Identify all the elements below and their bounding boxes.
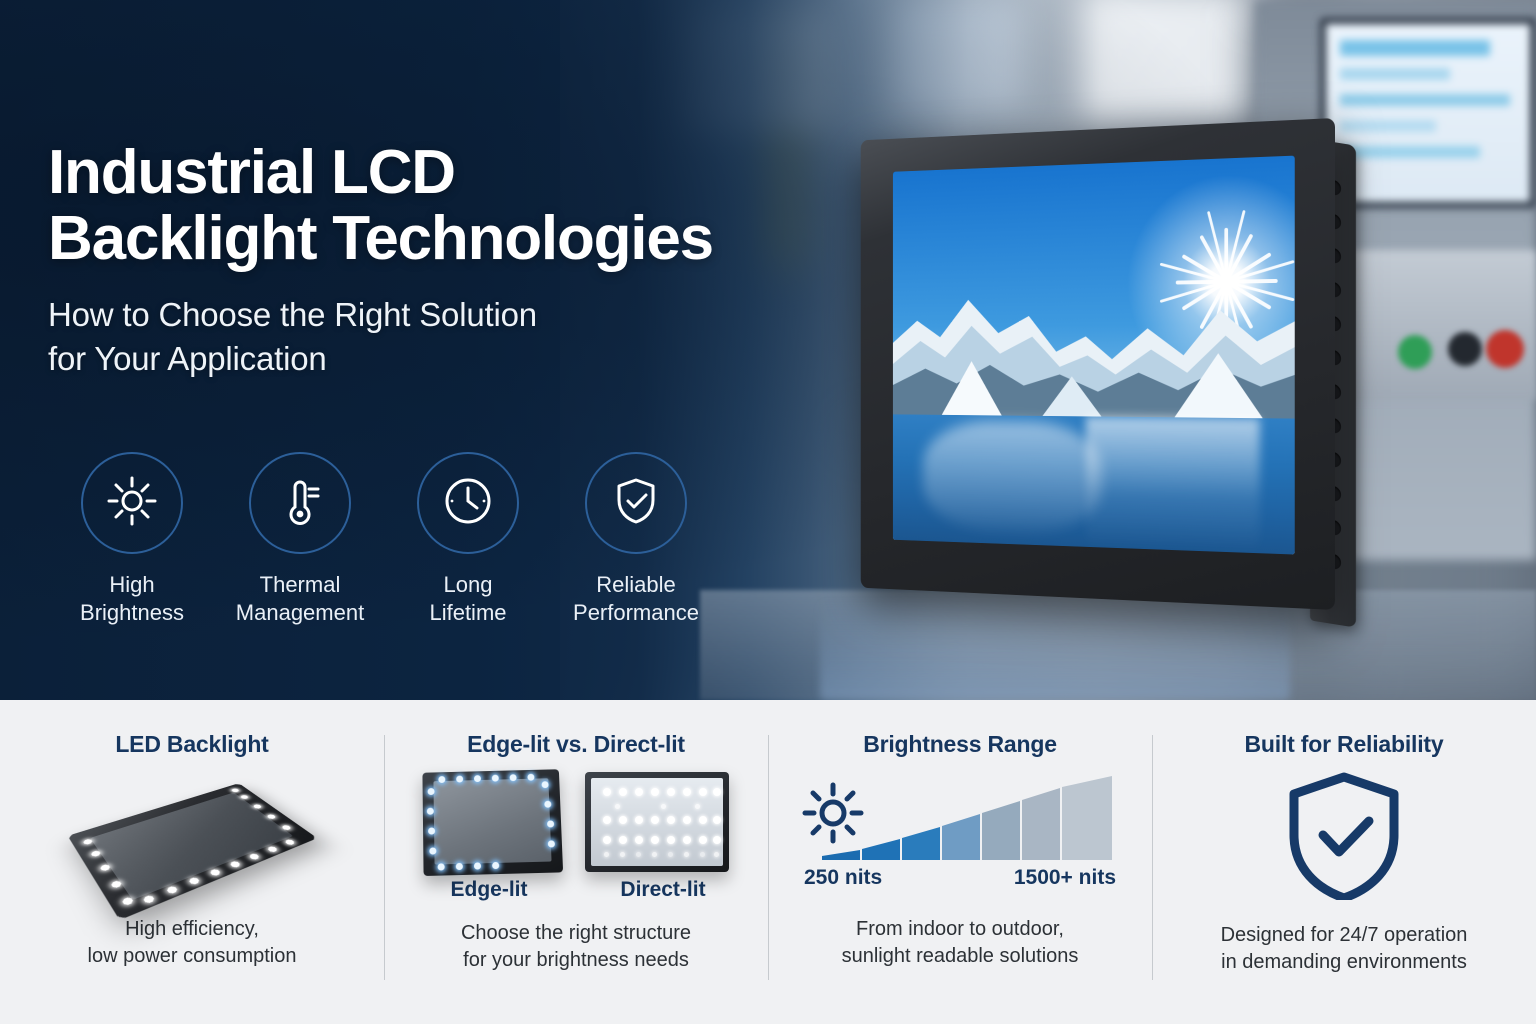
feature-high-brightness: High Brightness xyxy=(48,452,216,627)
monitor-bezel xyxy=(861,118,1335,610)
feature-thermal-management: Thermal Management xyxy=(216,452,384,627)
feature-icon-circle xyxy=(585,452,687,554)
column-title: Edge-lit vs. Direct-lit xyxy=(467,731,685,758)
panel-type-labels: Edge-lit Direct-lit xyxy=(414,878,738,902)
label-edge-lit: Edge-lit xyxy=(414,878,564,902)
label-direct-lit: Direct-lit xyxy=(588,878,738,902)
ramp-bar-5 xyxy=(982,801,1020,860)
feature-label-line1: Reliable xyxy=(596,572,676,597)
hero-feature-list: High Brightness Therm xyxy=(48,452,720,627)
hero-section: Industrial LCD Backlight Technologies Ho… xyxy=(0,0,1536,700)
feature-label-line1: Thermal xyxy=(260,572,341,597)
infographic-page: Industrial LCD Backlight Technologies Ho… xyxy=(0,0,1536,1024)
column-title: LED Backlight xyxy=(115,731,268,758)
column-title: Built for Reliability xyxy=(1245,731,1444,758)
led-backlight-panel-art xyxy=(86,762,298,912)
caption-line1: High efficiency, xyxy=(125,918,259,940)
caption-line1: Designed for 24/7 operation xyxy=(1221,924,1468,946)
hero-copy: Industrial LCD Backlight Technologies Ho… xyxy=(48,140,768,381)
monitor-screen xyxy=(893,156,1295,555)
ramp-bar-3 xyxy=(902,827,940,860)
feature-label-line1: Long xyxy=(444,572,493,597)
ramp-bar-7 xyxy=(1062,776,1112,860)
column-edge-vs-direct: Edge-lit vs. Direct-lit xyxy=(384,700,768,1024)
feature-label: Reliable Performance xyxy=(573,571,699,627)
reliability-shield-art xyxy=(1283,762,1405,912)
ramp-bar-2 xyxy=(862,839,900,860)
column-built-for-reliability: Built for Reliability Designed for 24/7 … xyxy=(1152,700,1536,1024)
caption-line1: Choose the right structure xyxy=(461,922,691,944)
caption-line2: in demanding environments xyxy=(1221,951,1467,973)
column-led-backlight: LED Backlight xyxy=(0,700,384,1024)
shield-check-icon xyxy=(1283,770,1405,905)
ramp-bar-1 xyxy=(822,850,860,860)
feature-label: Thermal Management xyxy=(236,571,364,627)
column-caption: Choose the right structure for your brig… xyxy=(461,920,691,974)
subtitle-line-1: How to Choose the Right Solution xyxy=(48,296,537,333)
feature-label: Long Lifetime xyxy=(429,571,506,627)
feature-label-line2: Performance xyxy=(573,600,699,625)
feature-label-line2: Lifetime xyxy=(429,600,506,625)
feature-icon-circle xyxy=(417,452,519,554)
column-title: Brightness Range xyxy=(863,731,1057,758)
feature-label: High Brightness xyxy=(80,571,184,627)
direct-lit-panel-art xyxy=(585,772,729,872)
caption-line2: for your brightness needs xyxy=(463,949,689,971)
feature-label-line2: Brightness xyxy=(80,600,184,625)
caption-line2: low power consumption xyxy=(88,945,297,967)
title-line-2: Backlight Technologies xyxy=(48,204,713,273)
ramp-bars-svg xyxy=(822,776,1112,860)
column-caption: From indoor to outdoor, sunlight readabl… xyxy=(842,916,1079,970)
thermometer-icon xyxy=(273,474,327,533)
column-caption: High efficiency, low power consumption xyxy=(88,916,297,970)
ramp-bar-4 xyxy=(942,814,980,860)
monitor-surface-reflection xyxy=(820,600,1290,700)
feature-long-lifetime: Long Lifetime xyxy=(384,452,552,627)
lake-reflection xyxy=(893,415,1295,555)
page-title: Industrial LCD Backlight Technologies xyxy=(48,140,768,271)
feature-label-line1: High xyxy=(109,572,154,597)
caption-line1: From indoor to outdoor, xyxy=(856,918,1064,940)
feature-reliable-performance: Reliable Performance xyxy=(552,452,720,627)
mountain-range xyxy=(893,270,1295,419)
subtitle-line-2: for Your Application xyxy=(48,340,327,377)
feature-icon-circle xyxy=(249,452,351,554)
feature-icon-circle xyxy=(81,452,183,554)
brightness-ramp-chart xyxy=(800,762,1120,888)
feature-columns: LED Backlight xyxy=(0,700,1536,1024)
edge-lit-panel-art xyxy=(422,769,563,876)
page-subtitle: How to Choose the Right Solution for You… xyxy=(48,293,768,380)
clock-icon xyxy=(441,474,495,533)
ramp-bar-group xyxy=(822,776,1112,860)
caption-line2: sunlight readable solutions xyxy=(842,945,1079,967)
edge-direct-panels-art xyxy=(423,762,729,882)
ramp-bar-6 xyxy=(1022,788,1060,860)
column-caption: Designed for 24/7 operation in demanding… xyxy=(1221,922,1468,976)
sun-icon xyxy=(105,474,159,533)
column-brightness-range: Brightness Range xyxy=(768,700,1152,1024)
title-line-1: Industrial LCD xyxy=(48,138,455,207)
feature-label-line2: Management xyxy=(236,600,364,625)
shield-check-icon xyxy=(609,474,663,533)
